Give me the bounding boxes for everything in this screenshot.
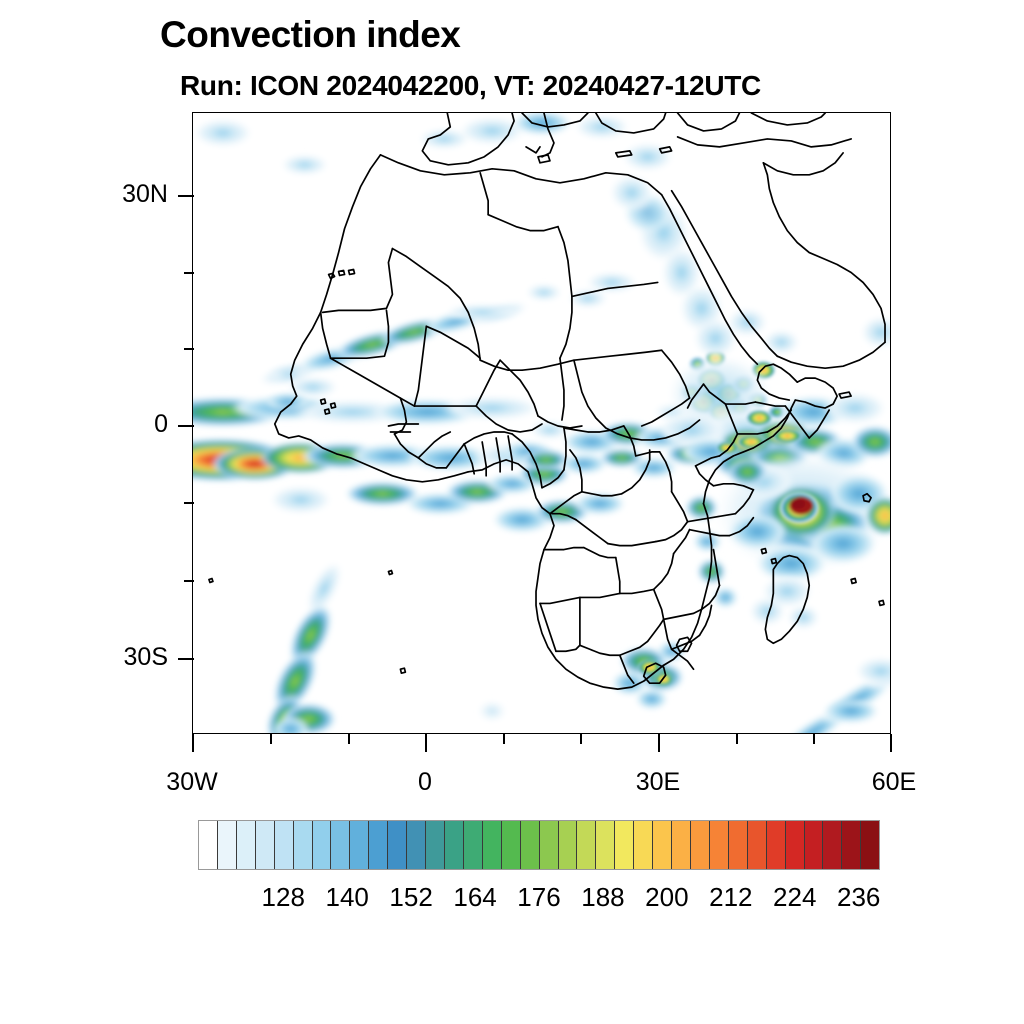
colorbar-cell	[464, 821, 483, 869]
colorbar-cell	[294, 821, 313, 869]
page-title: Convection index	[160, 16, 460, 53]
colorbar-cell	[710, 821, 729, 869]
colorbar-cell	[256, 821, 275, 869]
colorbar-cell	[275, 821, 294, 869]
colorbar-cell	[786, 821, 805, 869]
convection-index-figure: Convection index Run: ICON 2024042200, V…	[0, 0, 1024, 1024]
colorbar-cell	[369, 821, 388, 869]
colorbar-cell	[313, 821, 332, 869]
map-canvas	[193, 113, 890, 733]
colorbar-tick-label: 236	[837, 884, 880, 910]
colorbar-tick-label: 212	[709, 884, 752, 910]
x-label-0: 0	[355, 770, 495, 795]
colorbar[interactable]	[198, 820, 880, 870]
colorbar-cell	[388, 821, 407, 869]
colorbar-labels: 128140152164176188200212224236	[198, 884, 880, 916]
x-tick-50e	[813, 734, 815, 744]
colorbar-cell	[559, 821, 578, 869]
colorbar-tick-label: 224	[773, 884, 816, 910]
colorbar-cell	[861, 821, 879, 869]
colorbar-cell	[805, 821, 824, 869]
x-tick-60e	[890, 734, 892, 752]
y-tick-20s	[184, 580, 194, 582]
colorbar-cell	[672, 821, 691, 869]
y-tick-30n	[178, 195, 194, 197]
page-subtitle: Run: ICON 2024042200, VT: 20240427-12UTC	[180, 72, 761, 100]
colorbar-cell	[577, 821, 596, 869]
colorbar-cell	[767, 821, 786, 869]
colorbar-cell	[237, 821, 256, 869]
x-tick-10w	[348, 734, 350, 744]
colorbar-cell	[350, 821, 369, 869]
y-tick-10s	[184, 502, 194, 504]
colorbar-cell	[218, 821, 237, 869]
x-tick-20w	[270, 734, 272, 744]
y-label-0: 0	[20, 412, 168, 437]
x-tick-0	[425, 734, 427, 752]
y-tick-10n	[184, 348, 194, 350]
colorbar-tick-label: 176	[517, 884, 560, 910]
x-tick-40e	[736, 734, 738, 744]
colorbar-cell	[615, 821, 634, 869]
x-tick-20e	[580, 734, 582, 744]
colorbar-tick-label: 188	[581, 884, 624, 910]
colorbar-cell	[748, 821, 767, 869]
y-tick-30s	[178, 658, 194, 660]
x-label-30e: 30E	[588, 770, 728, 795]
x-label-60e: 60E	[824, 770, 964, 795]
colorbar-cell	[540, 821, 559, 869]
y-tick-0	[178, 425, 194, 427]
colorbar-cell	[634, 821, 653, 869]
y-label-30n: 30N	[20, 182, 168, 207]
colorbar-cell	[729, 821, 748, 869]
x-tick-30e	[658, 734, 660, 752]
colorbar-cell	[596, 821, 615, 869]
colorbar-cell	[426, 821, 445, 869]
y-label-30s: 30S	[20, 645, 168, 670]
colorbar-tick-label: 200	[645, 884, 688, 910]
map-panel[interactable]	[192, 112, 891, 734]
colorbar-cell	[823, 821, 842, 869]
colorbar-tick-label: 164	[453, 884, 496, 910]
colorbar-cell	[407, 821, 426, 869]
colorbar-cell	[842, 821, 861, 869]
colorbar-cell	[653, 821, 672, 869]
colorbar-cell	[445, 821, 464, 869]
y-tick-20n	[184, 272, 194, 274]
colorbar-cell	[521, 821, 540, 869]
colorbar-cell	[691, 821, 710, 869]
colorbar-tick-label: 140	[325, 884, 368, 910]
colorbar-cell	[502, 821, 521, 869]
colorbar-cell	[331, 821, 350, 869]
x-label-30w: 30W	[122, 770, 262, 795]
colorbar-cell	[199, 821, 218, 869]
colorbar-tick-label: 152	[389, 884, 432, 910]
x-tick-10e	[503, 734, 505, 744]
colorbar-tick-label: 128	[262, 884, 305, 910]
colorbar-cell	[483, 821, 502, 869]
x-tick-30w	[192, 734, 194, 752]
